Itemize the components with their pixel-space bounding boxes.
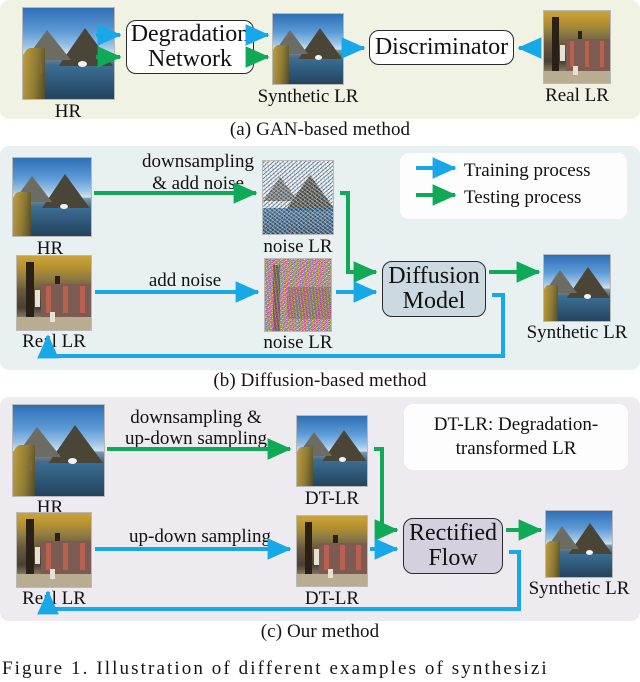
image-synthetic-lr-b	[543, 254, 611, 322]
caption-panel-a: (a) GAN-based method	[0, 119, 640, 141]
legend-box: Training process Testing process	[400, 153, 627, 219]
image-real-lr-b	[16, 255, 92, 331]
image-noise-lr-mountain	[262, 160, 334, 235]
figure-root: HR Degradation Network Synthetic LR Disc…	[0, 0, 640, 682]
caption-panel-c: (c) Our method	[0, 621, 640, 643]
box-diffusion-model[interactable]: Diffusion Model	[382, 261, 486, 317]
edge-label-downsampling-updown-line2: up-down sampling	[125, 428, 267, 450]
label-synthetic-lr-c: Synthetic LR	[529, 578, 630, 600]
image-hr-a	[22, 7, 115, 100]
edge-label-up-down-sampling: up-down sampling	[129, 526, 271, 548]
image-hr-c	[12, 404, 105, 497]
image-hr-b	[12, 157, 92, 237]
label-noise-lr-mountain: noise LR	[263, 236, 332, 258]
image-synthetic-lr-a	[272, 13, 344, 85]
image-dt-lr-street	[296, 515, 368, 587]
box-degradation-network-line2: Network	[148, 47, 232, 72]
legend-row-testing: Testing process	[464, 187, 581, 209]
label-real-lr-c: Real LR	[22, 588, 86, 610]
caption-panel-b: (b) Diffusion-based method	[0, 370, 640, 392]
edge-label-downsampling-updown-line1: downsampling &	[130, 407, 261, 429]
label-noise-lr-street: noise LR	[263, 332, 332, 354]
note-line2: transformed LR	[456, 438, 577, 460]
box-diffusion-model-line2: Model	[403, 289, 466, 314]
note-box-dt-lr: DT-LR: Degradation- transformed LR	[404, 404, 628, 470]
box-rectified-flow-line1: Rectified	[409, 521, 497, 546]
label-synthetic-lr-a: Synthetic LR	[258, 86, 359, 108]
box-degradation-network[interactable]: Degradation Network	[126, 20, 254, 74]
box-discriminator[interactable]: Discriminator	[369, 30, 514, 65]
label-dt-lr-street: DT-LR	[305, 588, 359, 610]
note-line1: DT-LR: Degradation-	[434, 414, 598, 436]
box-discriminator-label: Discriminator	[375, 35, 508, 60]
legend-row-training: Training process	[464, 160, 591, 182]
edge-label-add-noise: add noise	[149, 270, 221, 292]
image-synthetic-lr-c	[545, 510, 613, 578]
box-diffusion-model-line1: Diffusion	[388, 264, 480, 289]
image-noise-lr-street	[264, 258, 332, 332]
label-real-lr-b: Real LR	[22, 331, 86, 353]
box-degradation-network-line1: Degradation	[131, 22, 250, 47]
box-rectified-flow-line2: Flow	[428, 546, 477, 571]
legend-label-training: Training process	[464, 160, 591, 181]
figure-caption: Figure 1. Illustration of different exam…	[0, 658, 640, 680]
edge-label-downsampling-add-noise-line2: & add noise	[152, 173, 244, 195]
legend-label-testing: Testing process	[464, 187, 581, 208]
label-real-lr-a: Real LR	[545, 85, 609, 107]
image-real-lr-c	[16, 512, 92, 588]
label-synthetic-lr-b: Synthetic LR	[527, 322, 628, 344]
image-real-lr-a	[543, 10, 611, 84]
edge-label-downsampling-add-noise-line1: downsampling	[142, 151, 254, 173]
image-dt-lr-mountain	[296, 415, 368, 487]
label-dt-lr-mountain: DT-LR	[305, 488, 359, 510]
box-rectified-flow[interactable]: Rectified Flow	[403, 518, 503, 574]
